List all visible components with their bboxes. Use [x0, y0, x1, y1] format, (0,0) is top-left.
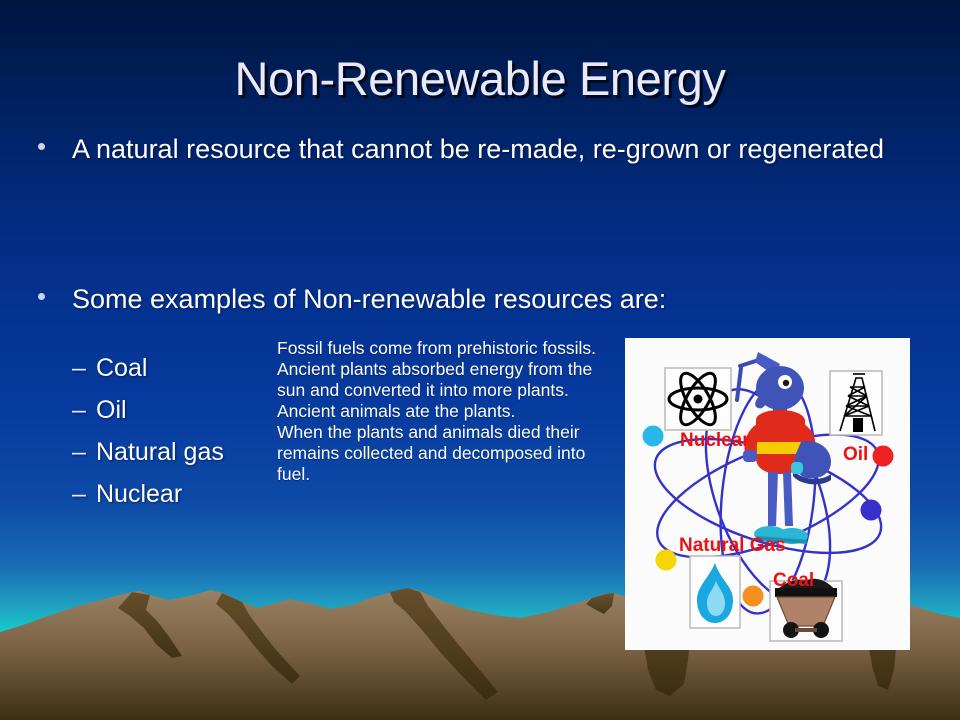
miner-character-icon — [737, 352, 831, 544]
bullet-item: A natural resource that cannot be re-mad… — [38, 131, 938, 167]
figure-label-oil: Oil — [843, 444, 868, 465]
bullet-dot-icon — [38, 293, 45, 300]
figure-label-nuclear: Nuclear — [680, 430, 750, 451]
dot-natural-gas — [656, 550, 677, 571]
sub-bullet-natural-gas: –Natural gas — [72, 436, 224, 468]
dot-oil — [873, 446, 894, 467]
dash-marker-icon: – — [72, 394, 96, 426]
paragraph-line: Fossil fuels come from prehistoric fossi… — [277, 338, 599, 422]
oil-derrick-icon — [830, 371, 882, 435]
sub-bullet-oil: –Oil — [72, 394, 127, 426]
sub-bullet-nuclear: –Nuclear — [72, 478, 182, 510]
dot-nuclear — [643, 426, 664, 447]
sub-bullet-label: Natural gas — [96, 438, 224, 466]
slide-canvas: Non-Renewable Energy A natural resource … — [0, 0, 960, 720]
bullet-item: Some examples of Non-renewable resources… — [38, 281, 938, 317]
fossil-fuel-textbox: Fossil fuels come from prehistoric fossi… — [277, 338, 599, 485]
gas-flame-icon — [690, 556, 740, 628]
slide-title: Non-Renewable Energy — [0, 52, 960, 106]
figure-label-coal: Coal — [773, 570, 814, 591]
dot-extra — [861, 500, 882, 521]
sub-bullet-coal: –Coal — [72, 352, 147, 384]
paragraph-line: When the plants and animals died their r… — [277, 422, 599, 485]
bullet-text: A natural resource that cannot be re-mad… — [72, 131, 938, 167]
sub-bullet-label: Nuclear — [96, 480, 182, 508]
bullet-dot-icon — [38, 143, 45, 150]
dash-marker-icon: – — [72, 478, 96, 510]
atom-icon — [665, 368, 731, 430]
dash-marker-icon: – — [72, 352, 96, 384]
sub-bullet-label: Oil — [96, 396, 127, 424]
energy-sources-diagram: Nuclear Oil Natural Gas Coal — [625, 338, 910, 650]
sub-bullet-label: Coal — [96, 354, 147, 382]
dash-marker-icon: – — [72, 436, 96, 468]
figure-label-natural-gas: Natural Gas — [679, 535, 786, 556]
bullet-text: Some examples of Non-renewable resources… — [72, 281, 938, 317]
dot-coal — [743, 586, 764, 607]
